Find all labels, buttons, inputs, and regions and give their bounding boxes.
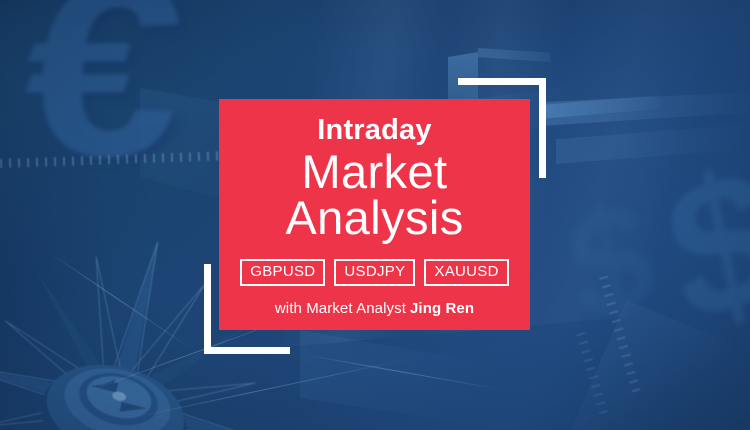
currency-pair-badge-usdjpy[interactable]: USDJPY: [334, 259, 415, 287]
bracket-arm-horizontal: [204, 347, 290, 354]
page-title-line-1: Market: [301, 145, 447, 198]
page-title-line-2: Analysis: [285, 195, 463, 241]
bracket-arm-horizontal: [458, 78, 546, 85]
bracket-arm-vertical: [539, 78, 546, 178]
banner-canvas: € € $ $: [0, 0, 750, 430]
currency-pair-badge-gbpusd[interactable]: GBPUSD: [240, 259, 325, 287]
analyst-name: Jing Ren: [410, 300, 474, 317]
page-title: Market Analysis: [285, 149, 463, 241]
title-card: Intraday Market Analysis GBPUSD USDJPY X…: [219, 99, 530, 330]
byline: with Market AnalystJing Ren: [275, 300, 474, 317]
currency-pair-list: GBPUSD USDJPY XAUUSD: [240, 259, 508, 287]
kicker-text: Intraday: [317, 115, 431, 145]
byline-prefix: with Market Analyst: [275, 300, 406, 317]
euro-symbol-icon: €: [15, 0, 193, 194]
bracket-arm-vertical: [204, 264, 211, 354]
currency-pair-badge-xauusd[interactable]: XAUUSD: [424, 259, 508, 287]
